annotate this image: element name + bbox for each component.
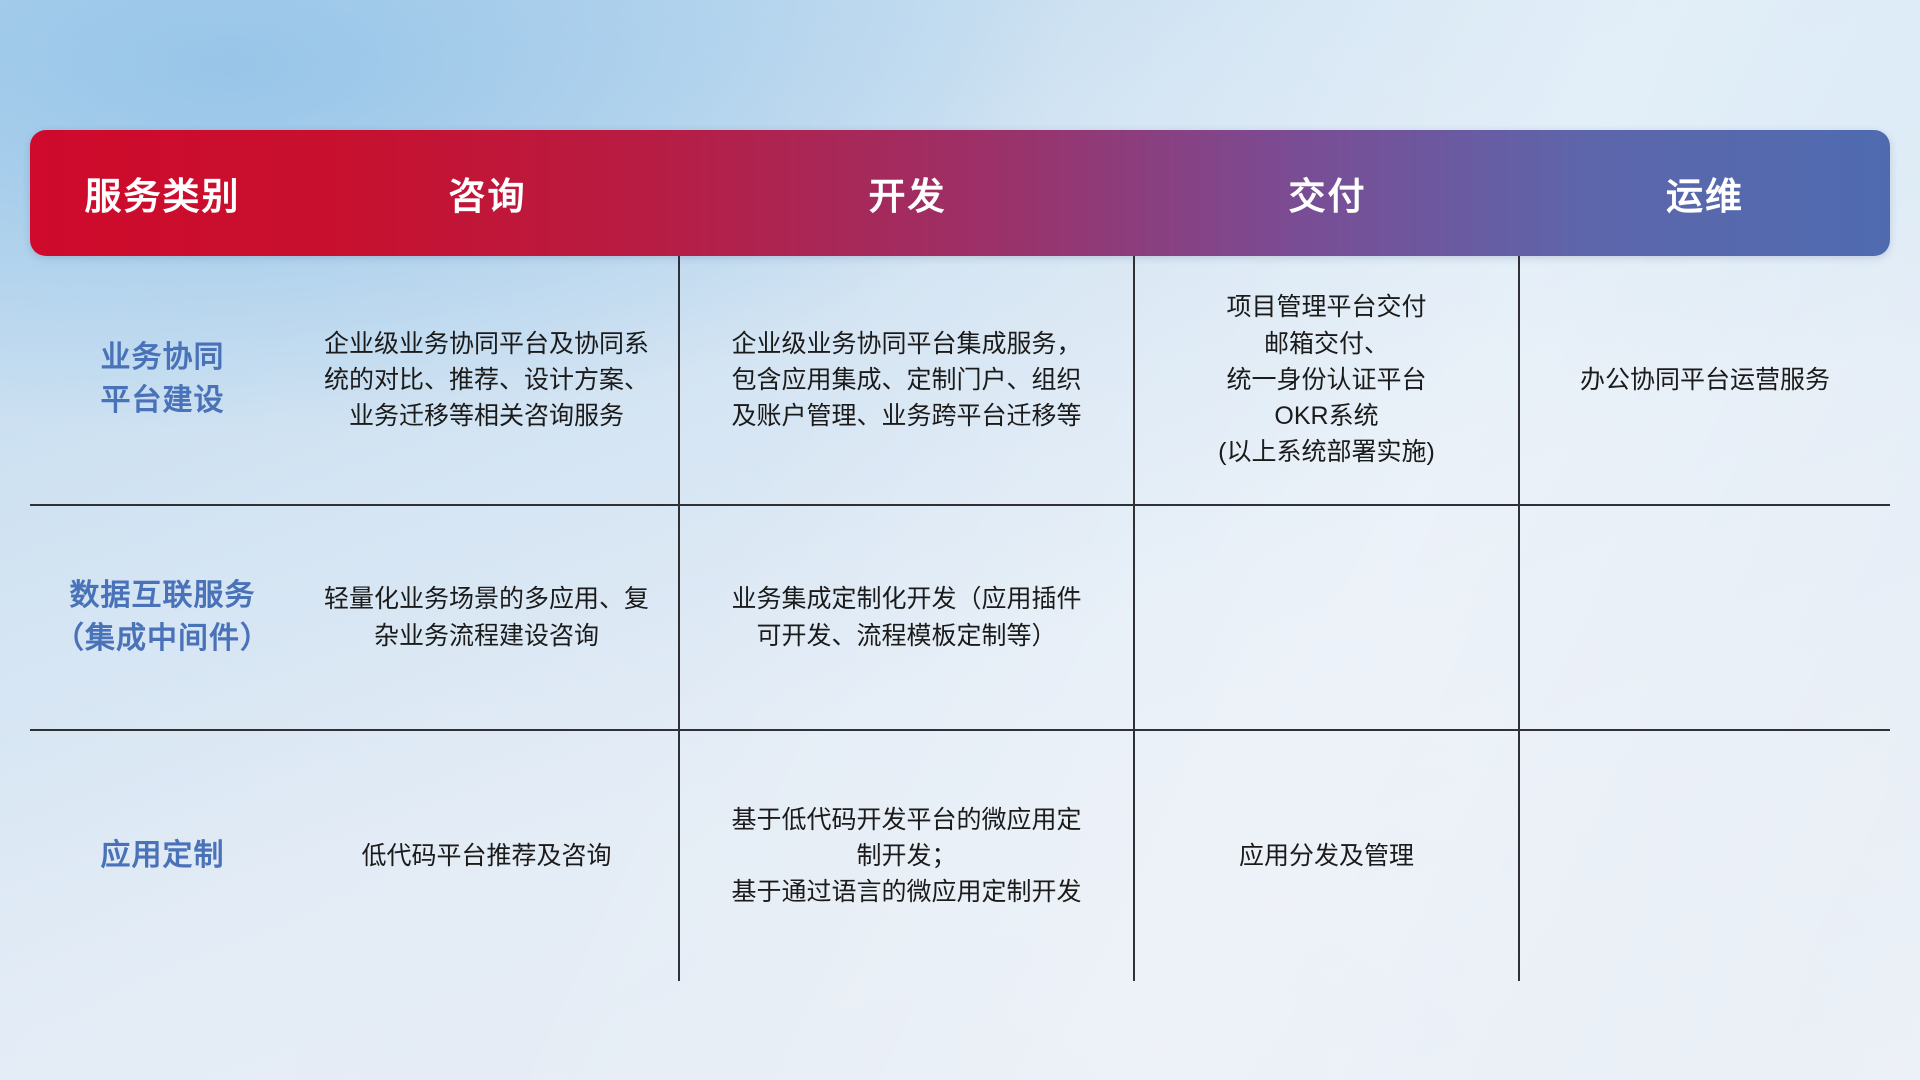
header-label-operations: 运维 [1666,176,1744,217]
header-label-delivery: 交付 [1289,176,1367,217]
cell-consulting: 轻量化业务场景的多应用、复 杂业务流程建设咨询 [295,506,680,731]
header-cell-operations: 运维 [1520,130,1890,256]
service-matrix-table: 服务类别 咨询 开发 交付 运维 业务协同 平台建设 [30,130,1890,981]
header-cell-category: 服务类别 [30,130,295,256]
header-row: 服务类别 咨询 开发 交付 运维 [30,130,1890,256]
row-category-label: 业务协同 平台建设 [30,256,295,506]
service-matrix-container: 服务类别 咨询 开发 交付 运维 业务协同 平台建设 [30,130,1890,950]
cell-operations: 办公协同平台运营服务 [1520,256,1890,506]
row-category-label: 应用定制 [30,731,295,981]
header-cell-consulting: 咨询 [295,130,680,256]
cell-consulting: 企业级业务协同平台及协同系 统的对比、推荐、设计方案、 业务迁移等相关咨询服务 [295,256,680,506]
cell-development: 业务集成定制化开发（应用插件 可开发、流程模板定制等） [680,506,1135,731]
table-row: 业务协同 平台建设 企业级业务协同平台及协同系 统的对比、推荐、设计方案、 业务… [30,256,1890,506]
table-body: 业务协同 平台建设 企业级业务协同平台及协同系 统的对比、推荐、设计方案、 业务… [30,256,1890,981]
header-label-development: 开发 [869,176,947,217]
cell-operations [1520,731,1890,981]
cell-operations [1520,506,1890,731]
cell-consulting: 低代码平台推荐及咨询 [295,731,680,981]
header-label-category: 服务类别 [85,176,241,217]
table-row: 应用定制 低代码平台推荐及咨询 基于低代码开发平台的微应用定 制开发； 基于通过… [30,731,1890,981]
header-cell-development: 开发 [680,130,1135,256]
row-category-label: 数据互联服务 （集成中间件） [30,506,295,731]
table-header: 服务类别 咨询 开发 交付 运维 [30,130,1890,256]
table-row: 数据互联服务 （集成中间件） 轻量化业务场景的多应用、复 杂业务流程建设咨询 业… [30,506,1890,731]
header-label-consulting: 咨询 [449,176,527,217]
cell-development: 基于低代码开发平台的微应用定 制开发； 基于通过语言的微应用定制开发 [680,731,1135,981]
cell-delivery: 项目管理平台交付 邮箱交付、 统一身份认证平台 OKR系统 (以上系统部署实施) [1135,256,1520,506]
header-cell-delivery: 交付 [1135,130,1520,256]
cell-development: 企业级业务协同平台集成服务， 包含应用集成、定制门户、组织 及账户管理、业务跨平… [680,256,1135,506]
cell-delivery: 应用分发及管理 [1135,731,1520,981]
cell-delivery [1135,506,1520,731]
